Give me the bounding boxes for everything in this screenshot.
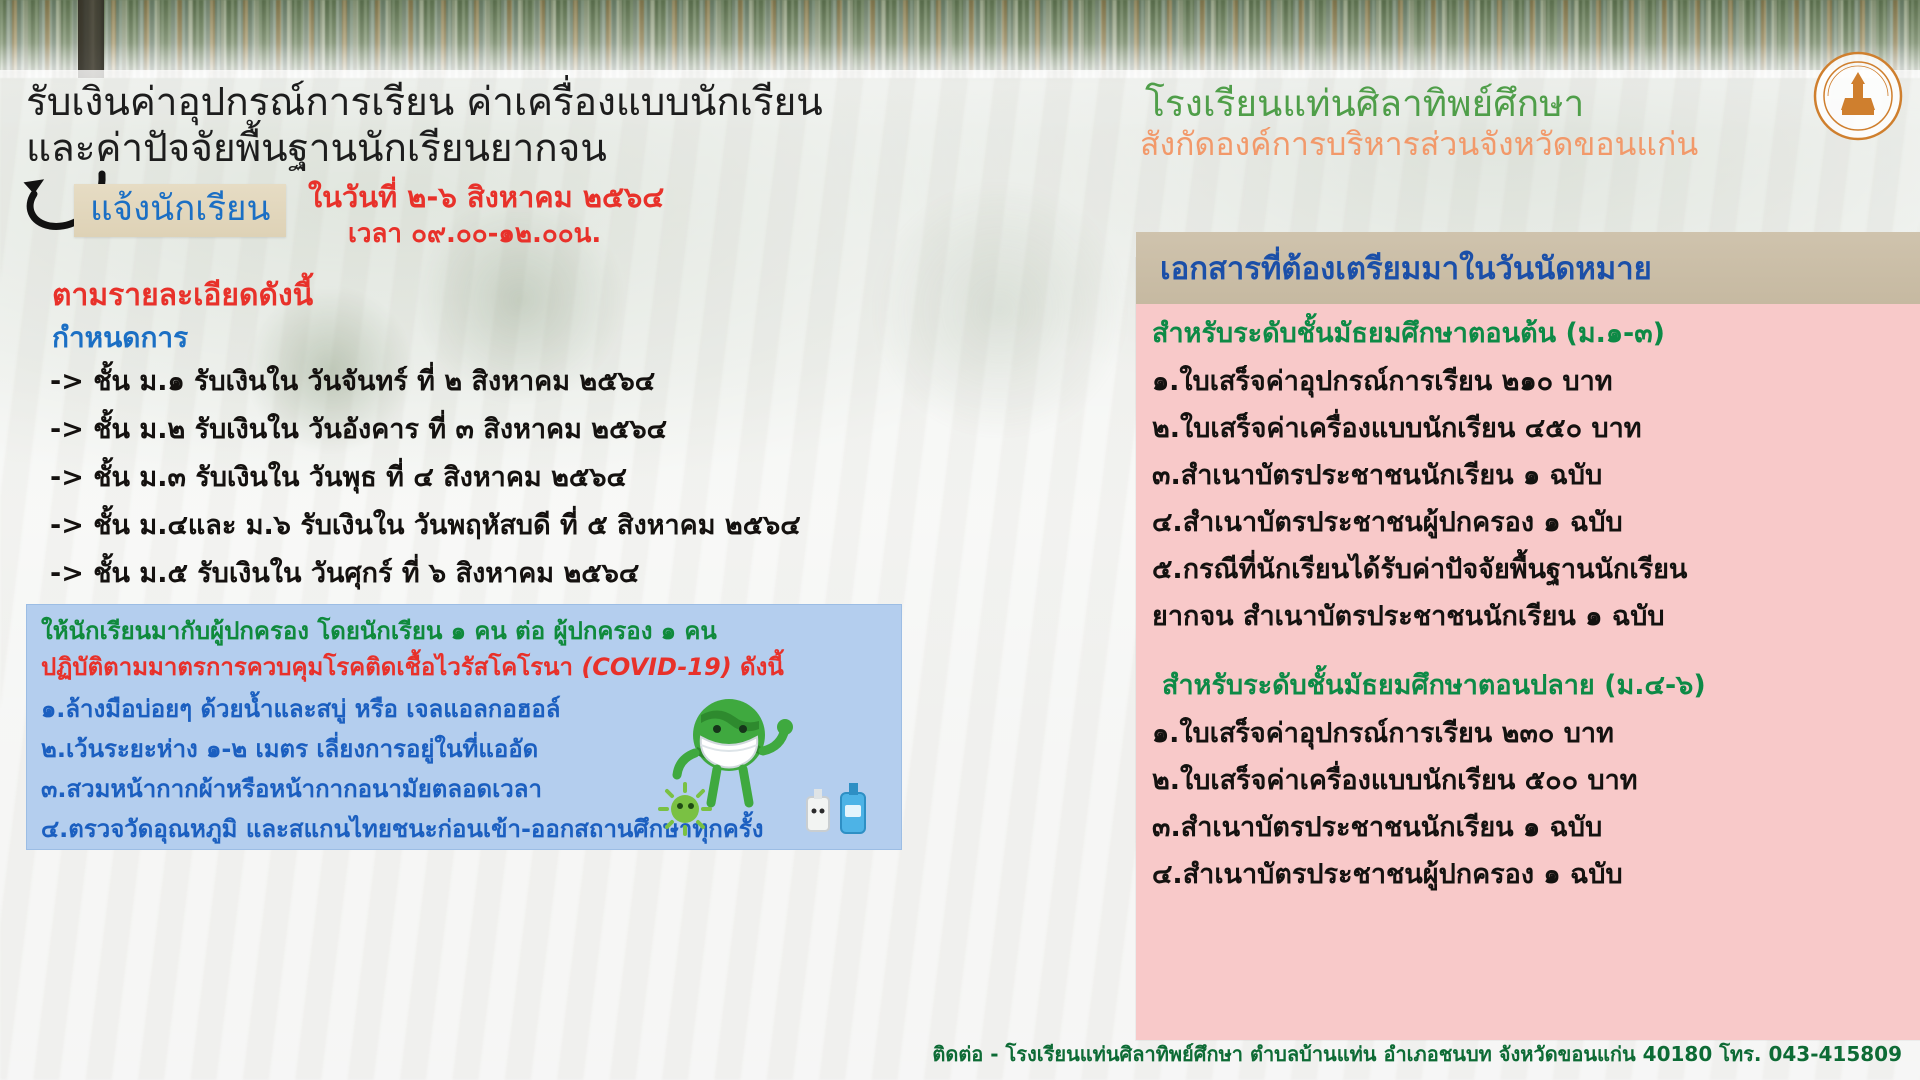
document-item: ยากจน สำเนาบัตรประชาชนนักเรียน ๑ ฉบับ: [1152, 593, 1920, 640]
covid-measures-prefix: ปฏิบัติตามมาตรการควบคุมโรคติดเชื้อไวรัสโ…: [41, 653, 581, 681]
schedule-row: -> ชั้น ม.๔และ ม.๖ รับเงินใน วันพฤหัสบดี…: [50, 502, 910, 550]
documents-panel-title: เอกสารที่ต้องเตรียมมาในวันนัดหมาย: [1160, 243, 1652, 293]
schedule-heading: กำหนดการ: [52, 316, 188, 360]
schedule-row: -> ชั้น ม.๒ รับเงินใน วันอังคาร ที่ ๓ สิ…: [50, 406, 910, 454]
headline-line-1: รับเงินค่าอุปกรณ์การเรียน ค่าเครื่องแบบน…: [26, 80, 906, 126]
event-time: เวลา ๐๙.๐๐-๑๒.๐๐น.: [348, 216, 664, 252]
notice-tag: แจ้งนักเรียน: [74, 184, 286, 237]
documents-body: สำหรับระดับชั้นมัธยมศึกษาตอนต้น (ม.๑-๓) …: [1136, 310, 1920, 898]
schedule-row: -> ชั้น ม.๑ รับเงินใน วันจันทร์ ที่ ๒ สิ…: [50, 358, 910, 406]
document-item: ๑.ใบเสร็จค่าอุปกรณ์การเรียน ๒๑๐ บาท: [1152, 358, 1920, 405]
section-divider: [1136, 640, 1920, 662]
covid-measures-suffix: ดังนี้: [732, 653, 784, 681]
tree-trunk-decoration: [78, 0, 104, 78]
school-name: โรงเรียนแท่นศิลาทิพย์ศึกษา: [1145, 82, 1584, 126]
upper-secondary-title: สำหรับระดับชั้นมัธยมศึกษาตอนปลาย (ม.๔-๖): [1162, 662, 1920, 710]
guardian-instruction: ให้นักเรียนมากับผู้ปกครอง โดยนักเรียน ๑ …: [41, 615, 717, 647]
documents-panel-header: เอกสารที่ต้องเตรียมมาในวันนัดหมาย: [1136, 232, 1920, 304]
document-item: ๔.สำเนาบัตรประชาชนผู้ปกครอง ๑ ฉบับ: [1152, 499, 1920, 546]
covid-measures-heading: ปฏิบัติตามมาตรการควบคุมโรคติดเชื้อไวรัสโ…: [41, 651, 784, 683]
document-item: ๒.ใบเสร็จค่าเครื่องแบบนักเรียน ๕๐๐ บาท: [1152, 757, 1920, 804]
earth-mascot-icon: [657, 693, 887, 843]
header-photo-strip: [0, 0, 1920, 78]
date-block: ในวันที่ ๒-๖ สิงหาคม ๒๕๖๔ เวลา ๐๙.๐๐-๑๒.…: [308, 178, 664, 252]
covid-measures-panel: ให้นักเรียนมากับผู้ปกครอง โดยนักเรียน ๑ …: [26, 604, 902, 850]
lower-secondary-title: สำหรับระดับชั้นมัธยมศึกษาตอนต้น (ม.๑-๓): [1152, 310, 1920, 358]
document-item: ๑.ใบเสร็จค่าอุปกรณ์การเรียน ๒๓๐ บาท: [1152, 710, 1920, 757]
details-heading: ตามรายละเอียดดังนี้: [52, 272, 313, 319]
schedule-row: -> ชั้น ม.๓ รับเงินใน วันพุธ ที่ ๔ สิงหา…: [50, 454, 910, 502]
document-item: ๓.สำเนาบัตรประชาชนนักเรียน ๑ ฉบับ: [1152, 452, 1920, 499]
school-seal-icon: [1812, 50, 1904, 142]
covid-19-tag: (COVID-19): [581, 653, 731, 681]
school-affiliation: สังกัดองค์การบริหารส่วนจังหวัดขอนแก่น: [1140, 124, 1698, 164]
footer-contact: ติดต่อ - โรงเรียนแท่นศิลาทิพย์ศึกษา ตำบล…: [0, 1038, 1920, 1070]
document-item: ๓.สำเนาบัตรประชาชนนักเรียน ๑ ฉบับ: [1152, 804, 1920, 851]
schedule-row: -> ชั้น ม.๕ รับเงินใน วันศุกร์ ที่ ๖ สิง…: [50, 550, 910, 598]
schedule-list: -> ชั้น ม.๑ รับเงินใน วันจันทร์ ที่ ๒ สิ…: [50, 358, 910, 598]
headline-block: รับเงินค่าอุปกรณ์การเรียน ค่าเครื่องแบบน…: [26, 80, 906, 172]
poster-canvas: รับเงินค่าอุปกรณ์การเรียน ค่าเครื่องแบบน…: [0, 0, 1920, 1080]
document-item: ๔.สำเนาบัตรประชาชนผู้ปกครอง ๑ ฉบับ: [1152, 851, 1920, 898]
document-item: ๕.กรณีที่นักเรียนได้รับค่าปัจจัยพื้นฐานน…: [1152, 546, 1920, 593]
required-documents-panel: เอกสารที่ต้องเตรียมมาในวันนัดหมาย สำหรับ…: [1136, 258, 1920, 1040]
event-date: ในวันที่ ๒-๖ สิงหาคม ๒๕๖๔: [308, 178, 664, 216]
document-item: ๒.ใบเสร็จค่าเครื่องแบบนักเรียน ๔๕๐ บาท: [1152, 405, 1920, 452]
headline-line-2: และค่าปัจจัยพื้นฐานนักเรียนยากจน: [26, 126, 906, 172]
